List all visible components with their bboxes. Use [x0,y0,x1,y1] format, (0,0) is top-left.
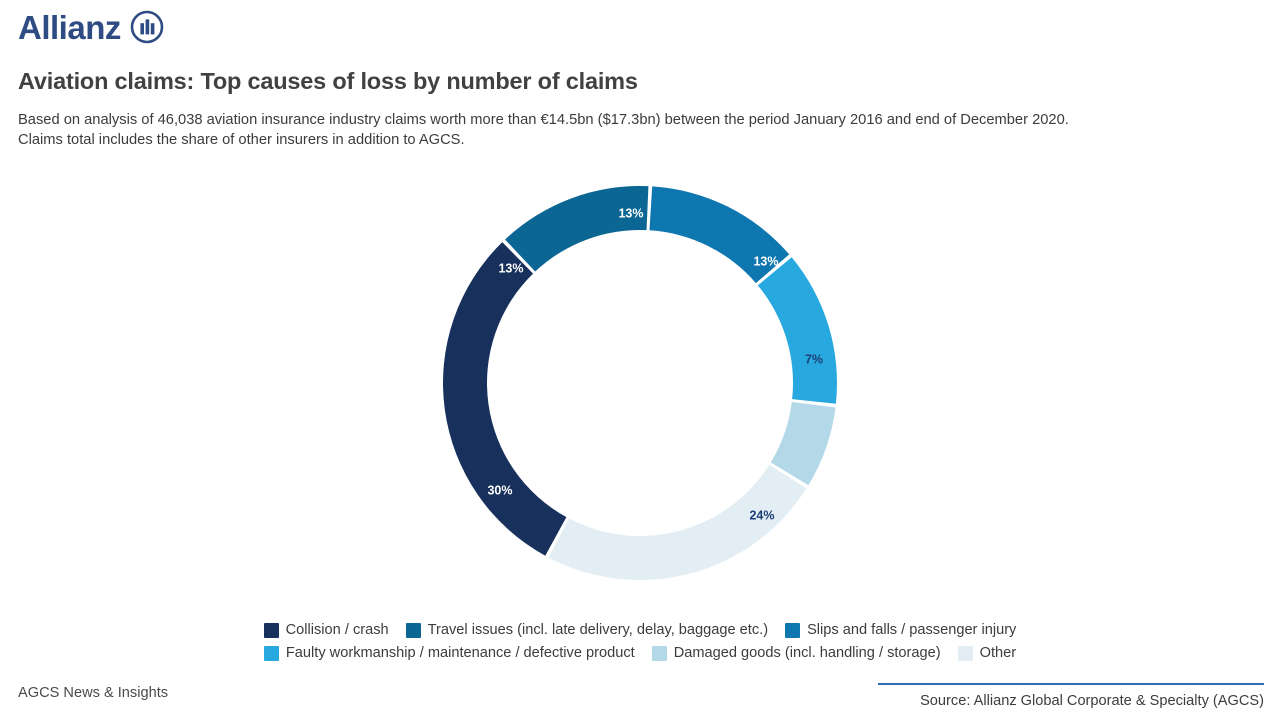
legend-item[interactable]: Collision / crash [264,620,389,641]
legend-item-label: Travel issues (incl. late delivery, dela… [428,623,768,638]
donut-slice-label: 13% [618,206,643,220]
legend-item-label: Faulty workmanship / maintenance / defec… [286,646,635,661]
infographic-page: Allianz Aviation claims: Top causes of l… [0,0,1280,720]
legend-swatch-icon [785,623,800,638]
allianz-bars-circle-icon [130,10,164,44]
legend-item[interactable]: Other [958,643,1017,664]
chart-subtitle-line-1: Based on analysis of 46,038 aviation ins… [18,110,1268,130]
donut-slice [758,257,837,403]
donut-slice [505,186,648,272]
donut-slice-label: 24% [749,508,774,522]
page-title: Aviation claims: Top causes of loss by n… [18,68,638,95]
donut-label-group: 13%13%7%24%30%13% [487,206,823,522]
donut-slice-label: 13% [753,254,778,268]
footer-attribution: AGCS News & Insights [18,685,168,701]
donut-slice-label: 7% [805,352,823,366]
legend-item[interactable]: Slips and falls / passenger injury [785,620,1016,641]
donut-slice [771,402,836,485]
donut-slice-label: 13% [498,261,523,275]
legend-item-label: Damaged goods (incl. handling / storage) [674,646,941,661]
legend-swatch-icon [406,623,421,638]
legend-swatch-icon [264,623,279,638]
donut-slice-label: 30% [487,483,512,497]
footer-source-text: Source: Allianz Global Corporate & Speci… [878,693,1264,709]
legend-swatch-icon [652,646,667,661]
legend-item-label: Collision / crash [286,623,389,638]
donut-slice [549,465,807,580]
donut-slice [443,242,566,556]
legend-item[interactable]: Faulty workmanship / maintenance / defec… [264,643,635,664]
legend-item-label: Slips and falls / passenger injury [807,623,1016,638]
legend-item[interactable]: Travel issues (incl. late delivery, dela… [406,620,768,641]
allianz-wordmark: Allianz [18,11,121,44]
chart-legend: Collision / crashTravel issues (incl. la… [0,620,1280,664]
chart-subtitle: Based on analysis of 46,038 aviation ins… [18,110,1268,150]
legend-swatch-icon [264,646,279,661]
legend-item-label: Other [980,646,1017,661]
donut-slice [649,186,789,283]
chart-subtitle-line-2: Claims total includes the share of other… [18,130,1268,150]
donut-chart: 13%13%7%24%30%13% [0,0,1280,720]
footer-divider [878,683,1264,685]
footer-source-block: Source: Allianz Global Corporate & Speci… [878,683,1264,709]
legend-swatch-icon [958,646,973,661]
donut-slice-group [443,186,837,580]
allianz-logo: Allianz [18,10,164,44]
legend-item[interactable]: Damaged goods (incl. handling / storage) [652,643,941,664]
